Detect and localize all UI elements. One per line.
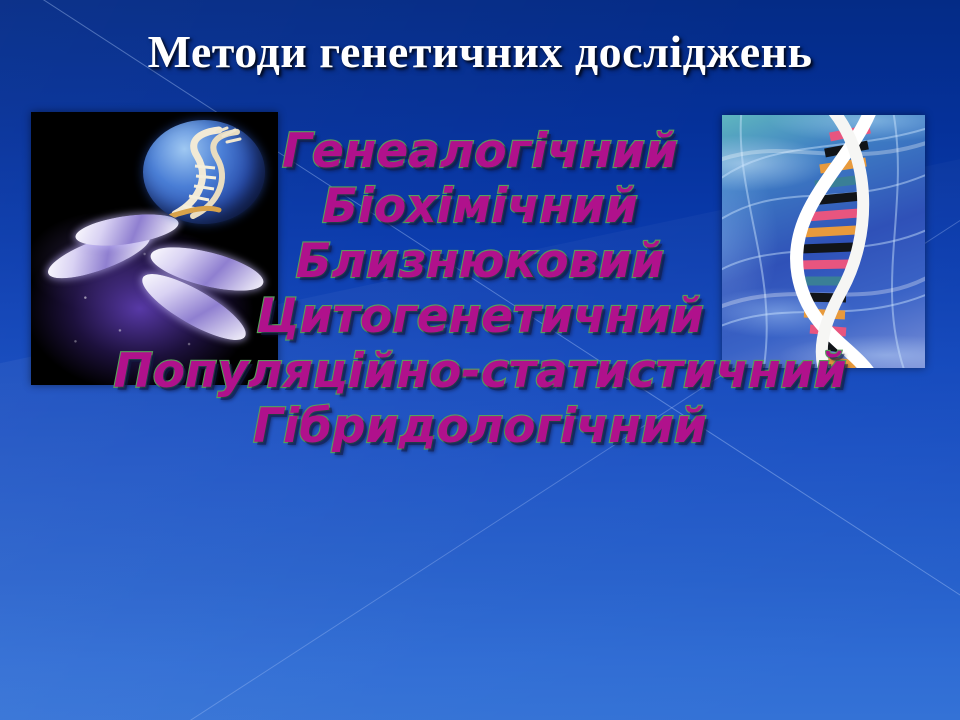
methods-list-item: Цитогенетичний bbox=[0, 293, 960, 340]
methods-list-item: Біохімічний bbox=[0, 183, 960, 230]
method-label-population-statistical: Популяційно-статистичний bbox=[113, 344, 846, 399]
method-label-cytogenetic: Цитогенетичний bbox=[256, 289, 704, 344]
methods-list: Генеалогічний Біохімічний Близнюковий Ци… bbox=[0, 128, 960, 458]
methods-list-item: Близнюковий bbox=[0, 238, 960, 285]
methods-list-item: Гібридологічний bbox=[0, 403, 960, 450]
slide-title: Методи генетичних досліджень bbox=[0, 28, 960, 76]
method-label-twin: Близнюковий bbox=[296, 234, 664, 289]
method-label-biochemical: Біохімічний bbox=[322, 179, 638, 234]
method-label-genealogical: Генеалогічний bbox=[282, 124, 678, 179]
presentation-slide: Методи генетичних досліджень bbox=[0, 0, 960, 720]
methods-list-item: Генеалогічний bbox=[0, 128, 960, 175]
method-label-hybridological: Гібридологічний bbox=[253, 399, 707, 454]
methods-list-item: Популяційно-статистичний bbox=[0, 348, 960, 395]
